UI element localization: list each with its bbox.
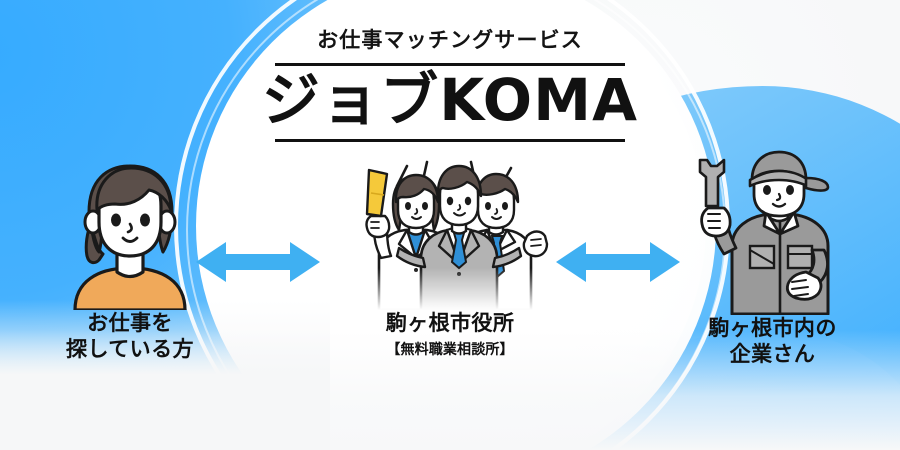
worker-with-wrench-icon (650, 150, 895, 315)
column-job-seeker-label: お仕事を 探している方 (10, 310, 250, 363)
arrow-hall-to-company (556, 238, 680, 290)
arrow-seeker-to-hall (196, 238, 320, 290)
banner-canvas: お仕事マッチングサービス ジョブKOMA (0, 0, 900, 450)
city-hall-label-line1: 駒ヶ根市役所 (280, 310, 620, 336)
service-subtitle: お仕事マッチングサービス (0, 28, 900, 53)
title-rule-bottom (275, 139, 625, 142)
job-seeker-label-line2: 探している方 (10, 336, 250, 362)
city-hall-sublabel: 【無料職業相談所】 (280, 339, 620, 359)
local-company-label-line1: 駒ヶ根市内の (650, 315, 895, 341)
local-company-label-line2: 企業さん (650, 341, 895, 367)
banner-header: お仕事マッチングサービス ジョブKOMA (0, 28, 900, 142)
brand-title: ジョブKOMA (0, 68, 900, 133)
job-seeker-label-line1: お仕事を (10, 310, 250, 336)
column-local-company: 駒ヶ根市内の 企業さん (650, 150, 895, 368)
column-local-company-label: 駒ヶ根市内の 企業さん (650, 315, 895, 368)
column-city-hall-label: 駒ヶ根市役所 (280, 310, 620, 336)
